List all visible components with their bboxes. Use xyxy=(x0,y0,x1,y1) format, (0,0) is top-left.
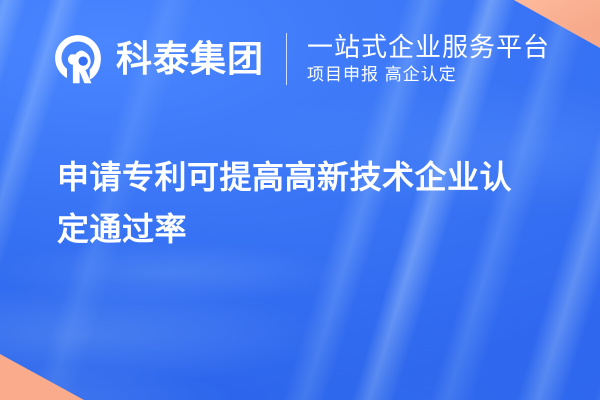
promotional-banner: 科泰集团 一站式企业服务平台 项目申报 高企认定 申请专利可提高高新技术企业认定… xyxy=(0,0,600,400)
banner-header: 科泰集团 一站式企业服务平台 项目申报 高企认定 xyxy=(52,28,550,90)
tagline-sub: 项目申报 高企认定 xyxy=(307,64,550,85)
tagline-main: 一站式企业服务平台 xyxy=(307,33,550,62)
page-title: 申请专利可提高高新技术企业认定通过率 xyxy=(57,152,543,256)
tagline-group: 一站式企业服务平台 项目申报 高企认定 xyxy=(307,33,550,85)
brand-name: 科泰集团 xyxy=(116,41,264,77)
header-divider xyxy=(286,33,287,85)
ketai-circle-logo-icon xyxy=(52,33,104,85)
